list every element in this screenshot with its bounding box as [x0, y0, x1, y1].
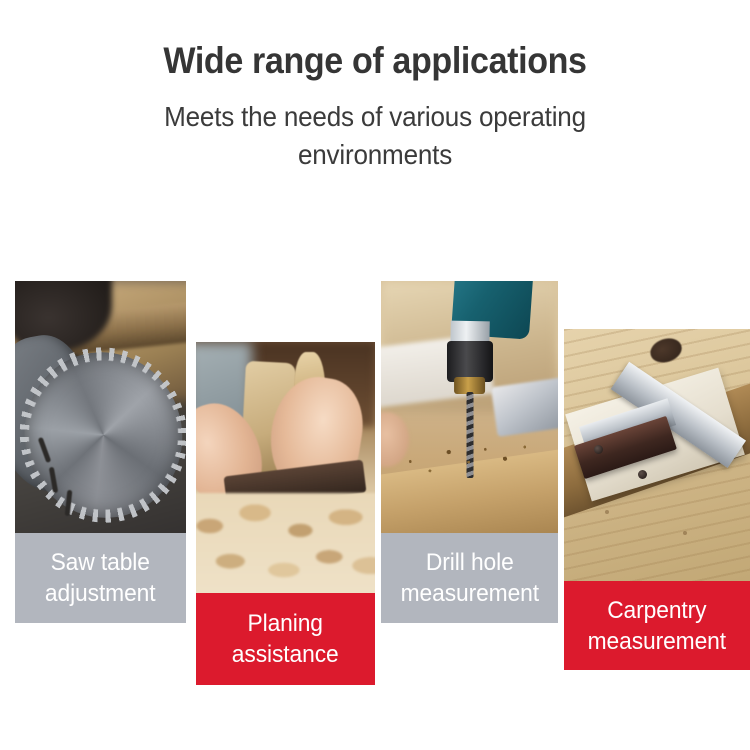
photo-art: [15, 281, 186, 533]
card-caption-carpentry-measurement: Carpentry measurement: [564, 581, 750, 670]
card-caption-planing-assistance: Planing assistance: [196, 593, 375, 685]
card-caption-line-2: adjustment: [45, 578, 156, 609]
card-caption-line-2: measurement: [588, 626, 726, 657]
application-card-planing-assistance[interactable]: Planing assistance: [196, 342, 375, 685]
application-showcase-page: Wide range of applications Meets the nee…: [0, 0, 750, 750]
card-caption-line-1: Planing: [232, 608, 339, 639]
page-title: Wide range of applications: [30, 0, 720, 84]
page-subtitle-line-1: Meets the needs of various operating: [115, 98, 636, 136]
application-card-carpentry-measurement[interactable]: Carpentry measurement: [564, 329, 750, 670]
card-caption-drill-hole-measurement: Drill hole measurement: [381, 533, 558, 623]
card-caption-line-1: Carpentry: [588, 595, 726, 626]
card-caption-saw-table-adjustment: Saw table adjustment: [15, 533, 186, 623]
page-subtitle-line-2: environments: [115, 136, 636, 174]
photo-art: [564, 329, 750, 581]
application-card-drill-hole-measurement[interactable]: Drill hole measurement: [381, 281, 558, 623]
photo-drill-boring-hole: [381, 281, 558, 533]
card-caption-line-1: Drill hole: [400, 547, 538, 578]
photo-hand-planing-wood: [196, 342, 375, 593]
card-caption-line-2: measurement: [400, 578, 538, 609]
photo-try-square-on-bench: [564, 329, 750, 581]
card-caption-line-2: assistance: [232, 639, 339, 670]
page-subtitle: Meets the needs of various operating env…: [115, 84, 636, 174]
application-card-saw-table-adjustment[interactable]: Saw table adjustment: [15, 281, 186, 623]
photo-circular-saw-blade: [15, 281, 186, 533]
card-caption-line-1: Saw table: [45, 547, 156, 578]
photo-art: [381, 281, 558, 533]
header: Wide range of applications Meets the nee…: [0, 0, 750, 174]
photo-art: [196, 342, 375, 593]
